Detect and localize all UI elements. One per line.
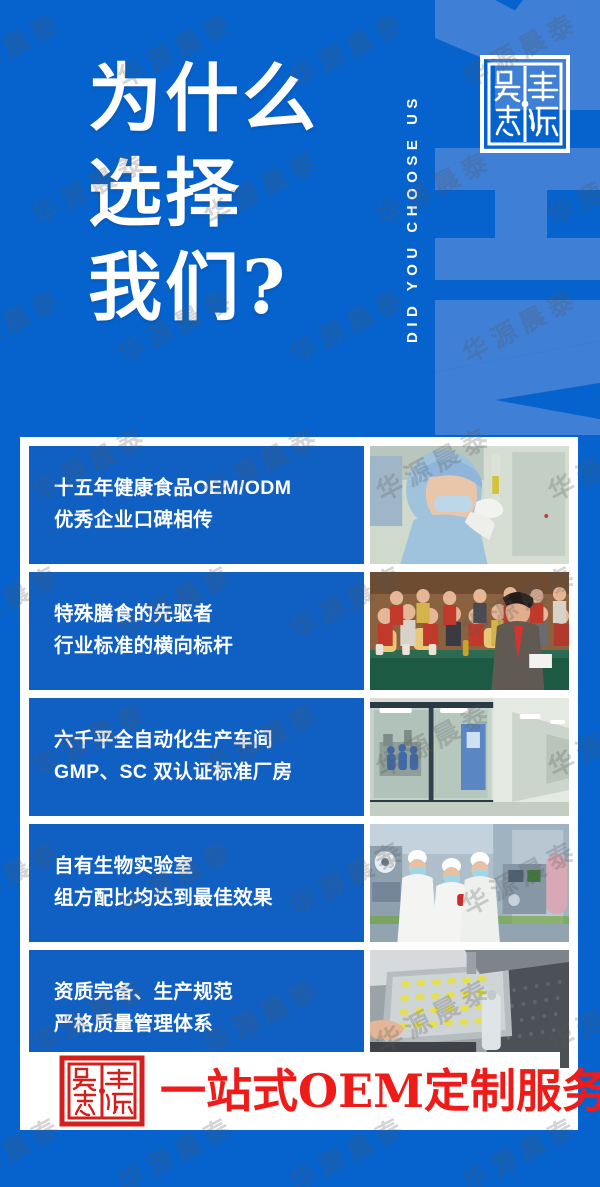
benefit-line-1: 资质完备、生产规范: [54, 977, 364, 1009]
brand-seal-top-icon: [477, 52, 573, 156]
benefit-line-2: 优秀企业口碑相传: [54, 505, 364, 537]
photo-lab-technician-vial: [370, 446, 569, 564]
benefit-card-text: 资质完备、生产规范 严格质量管理体系: [29, 950, 364, 1068]
benefit-line-2: GMP、SC 双认证标准厂房: [54, 757, 364, 789]
benefits-panel: 十五年健康食品OEM/ODM 优秀企业口碑相传: [20, 437, 578, 1130]
benefit-line-2: 行业标准的横向标杆: [54, 631, 364, 663]
benefit-card-text: 十五年健康食品OEM/ODM 优秀企业口碑相传: [29, 446, 364, 564]
benefit-card[interactable]: 六千平全自动化生产车间 GMP、SC 双认证标准厂房: [29, 698, 569, 816]
photo-production-line-workers: [370, 824, 569, 942]
benefit-line-2: 严格质量管理体系: [54, 1009, 364, 1041]
benefit-line-2: 组方配比均达到最佳效果: [54, 883, 364, 915]
photo-conference-audience: [370, 572, 569, 690]
title-line-2: 选择: [88, 147, 319, 242]
title-line-1: 为什么: [88, 52, 319, 147]
benefit-card[interactable]: 自有生物实验室 组方配比均达到最佳效果: [29, 824, 569, 942]
benefit-line-1: 自有生物实验室: [54, 851, 364, 883]
page-title: 为什么 选择 我们?: [88, 52, 319, 336]
brand-seal-bottom-icon: [58, 1055, 146, 1127]
benefit-card-text: 自有生物实验室 组方配比均达到最佳效果: [29, 824, 364, 942]
title-line-3: 我们?: [88, 241, 319, 336]
benefit-line-1: 特殊膳食的先驱者: [54, 599, 364, 631]
benefit-card[interactable]: 十五年健康食品OEM/ODM 优秀企业口碑相传: [29, 446, 569, 564]
photo-tablet-press-machine: [370, 950, 569, 1068]
benefit-card[interactable]: 特殊膳食的先驱者 行业标准的横向标杆: [29, 572, 569, 690]
hero-banner: 为什么 选择 我们? DID YOU CHOOSE US: [0, 0, 600, 435]
cta-label: 一站式OEM定制服务: [160, 1068, 600, 1114]
benefit-line-1: 六千平全自动化生产车间: [54, 725, 364, 757]
benefit-card[interactable]: 资质完备、生产规范 严格质量管理体系: [29, 950, 569, 1068]
benefit-line-1: 十五年健康食品OEM/ODM: [54, 473, 364, 505]
benefit-card-text: 六千平全自动化生产车间 GMP、SC 双认证标准厂房: [29, 698, 364, 816]
vertical-english-tagline: DID YOU CHOOSE US: [404, 18, 434, 418]
cta-banner[interactable]: 一站式OEM定制服务: [20, 1052, 560, 1130]
photo-cleanroom-corridor: [370, 698, 569, 816]
benefit-card-text: 特殊膳食的先驱者 行业标准的横向标杆: [29, 572, 364, 690]
